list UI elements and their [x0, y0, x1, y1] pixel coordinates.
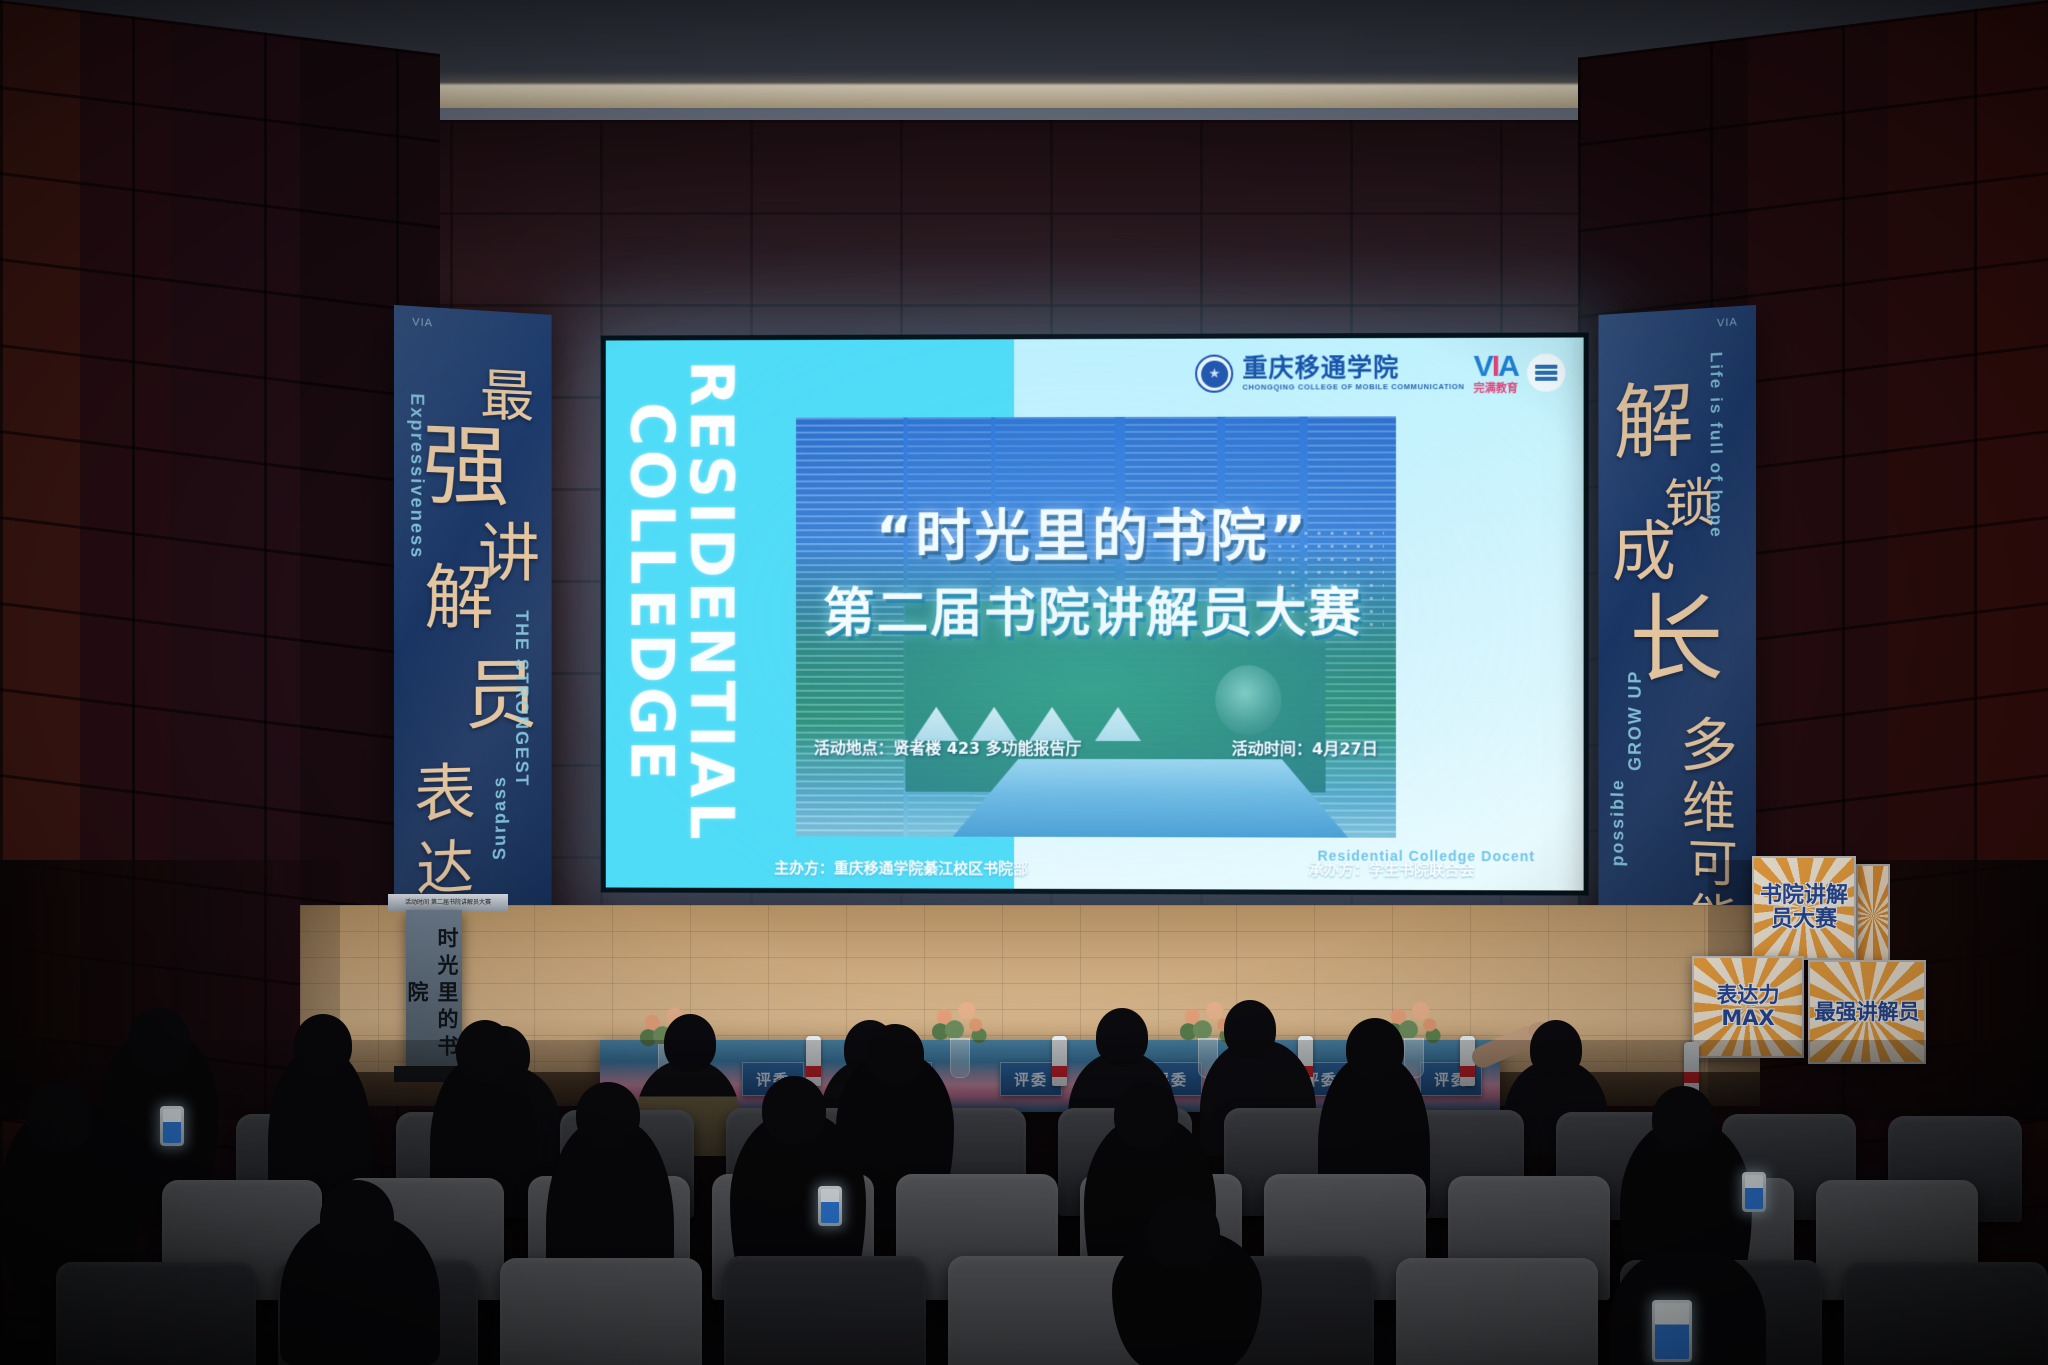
theater-seat — [1844, 1262, 2048, 1365]
banner-left-en-bottom: Surpass — [490, 775, 510, 860]
banner-left-brand: VIA — [412, 316, 433, 329]
via-letter-v: V — [1474, 350, 1492, 383]
prize-box-top: 书院讲解员大赛 — [1752, 856, 1856, 960]
via-logo: VIA 完满教育 — [1474, 352, 1518, 394]
book-icon — [1527, 354, 1565, 392]
via-letter-a: A — [1498, 350, 1518, 383]
slide-logo-row: ★ 重庆移通学院 CHONGQING COLLEGE OF MOBILE COM… — [1195, 352, 1565, 395]
banner-right-char-1: 解 — [1614, 353, 1694, 475]
phone-screen-icon — [1652, 1300, 1692, 1362]
via-mark: VIA — [1474, 352, 1518, 382]
college-seal-icon: ★ — [1195, 355, 1233, 393]
audience-head — [1114, 1082, 1178, 1148]
banner-right-en-top: Life is full of hope — [1706, 351, 1726, 539]
slide-vertical-residential: RESIDENTIAL — [683, 360, 738, 844]
slide-credits-row: 主办方：重庆移通学院綦江校区书院部 承办方：学生书院联合会 — [774, 857, 1474, 880]
banner-right-brand: VIA — [1717, 316, 1738, 329]
auditorium-photo: RESIDENTIAL COLLEDGE “时光里的书院” 第二届 — [0, 0, 2048, 1365]
slide-location: 活动地点：贤者楼 423 多功能报告厅 — [814, 735, 1082, 759]
theater-seat — [500, 1258, 702, 1365]
banner-right-en-bottom: possible — [1608, 778, 1628, 867]
audience-head — [762, 1076, 826, 1144]
audience-head — [576, 1082, 640, 1148]
slide-organizer: 主办方：重庆移通学院綦江校区书院部 — [774, 857, 1028, 879]
book-glyph — [1535, 365, 1557, 381]
presentation-slide: RESIDENTIAL COLLEDGE “时光里的书院” 第二届 — [606, 337, 1584, 890]
college-name-en: CHONGQING COLLEGE OF MOBILE COMMUNICATIO… — [1242, 382, 1464, 392]
slide-datetime: 活动时间：4月27日 — [1232, 735, 1378, 759]
slide-title: “时光里的书院” — [773, 491, 1413, 573]
banner-right-en-mid: GROW UP — [1625, 670, 1645, 772]
banner-left-en-top: Expressiveness — [406, 393, 427, 560]
led-screen[interactable]: RESIDENTIAL COLLEDGE “时光里的书院” 第二届 — [601, 332, 1589, 895]
theater-seat — [56, 1262, 256, 1365]
audience-head — [128, 1008, 190, 1074]
banner-left: VIA 最 强 讲 解 员 表 达 Expressiveness THE STR… — [394, 305, 552, 965]
banner-left-char-4: 解 — [424, 541, 493, 643]
phone-screen-icon — [160, 1106, 184, 1146]
audience-head — [1652, 1086, 1714, 1152]
college-name-zh: 重庆移通学院 — [1242, 355, 1464, 381]
audience-head — [866, 1024, 924, 1084]
audience-head — [320, 1180, 394, 1256]
audience-head — [456, 1020, 514, 1082]
audience-head — [1346, 1018, 1404, 1080]
slide-vertical-colledge: COLLEDGE — [624, 402, 679, 785]
college-wordmark: 重庆移通学院 CHONGQING COLLEGE OF MOBILE COMMU… — [1242, 355, 1464, 392]
prize-box-stack: 书院讲解员大赛 表达力 MAX 最强讲解员 — [1690, 856, 1940, 1071]
phone-screen-icon — [1742, 1172, 1766, 1212]
via-subtitle: 完满教育 — [1474, 383, 1518, 394]
audience-head — [26, 1082, 92, 1152]
slide-co-organizer: 承办方：学生书院联合会 — [1308, 859, 1474, 881]
phone-screen-icon — [818, 1186, 842, 1226]
audience-head — [294, 1014, 352, 1076]
slide-subtitle: 第二届书院讲解员大赛 — [734, 571, 1454, 646]
theater-seat — [724, 1256, 926, 1365]
audience-head — [1148, 1196, 1220, 1270]
banner-left-en-mid: THE STRONGEST — [511, 610, 531, 788]
box-side-face — [1856, 864, 1890, 968]
tree-icon — [1215, 665, 1281, 735]
slide-meta-row: 活动地点：贤者楼 423 多功能报告厅 活动时间：4月27日 — [796, 735, 1396, 760]
theater-seat — [1396, 1258, 1598, 1365]
seal-inner-glyph: ★ — [1201, 360, 1228, 387]
